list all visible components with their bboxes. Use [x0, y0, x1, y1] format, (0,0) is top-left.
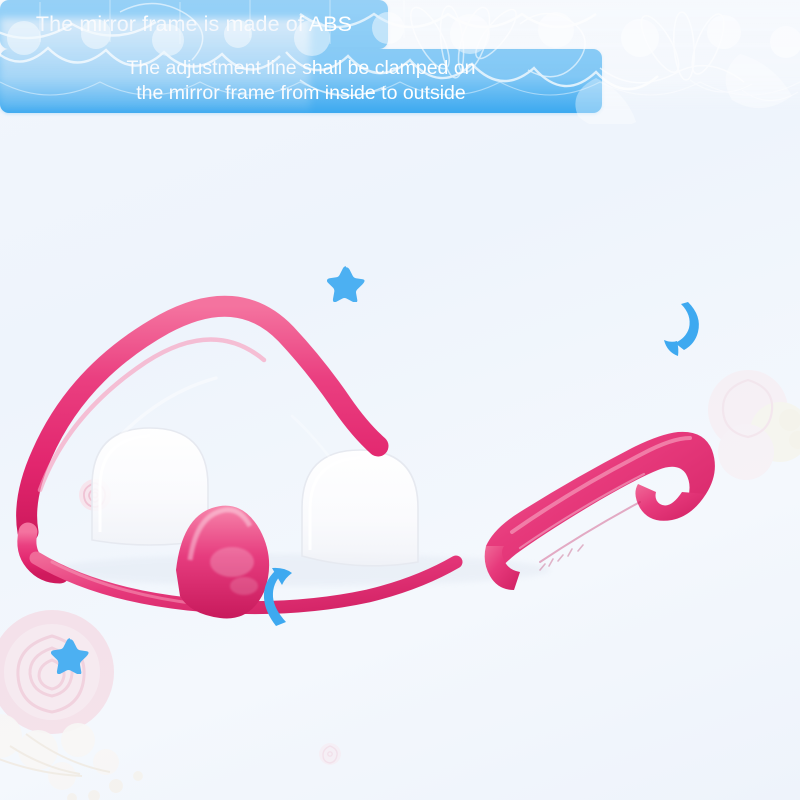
product-image-canvas: The mirror frame is made of ABS The adju… — [0, 0, 800, 800]
star-icon — [327, 264, 365, 302]
curved-arrow-up-icon — [252, 566, 314, 630]
star-icon — [51, 636, 89, 674]
rose-flower-watermark — [318, 742, 342, 766]
curved-arrow-down-icon — [648, 300, 712, 360]
lace-doily-pattern — [0, 0, 800, 124]
